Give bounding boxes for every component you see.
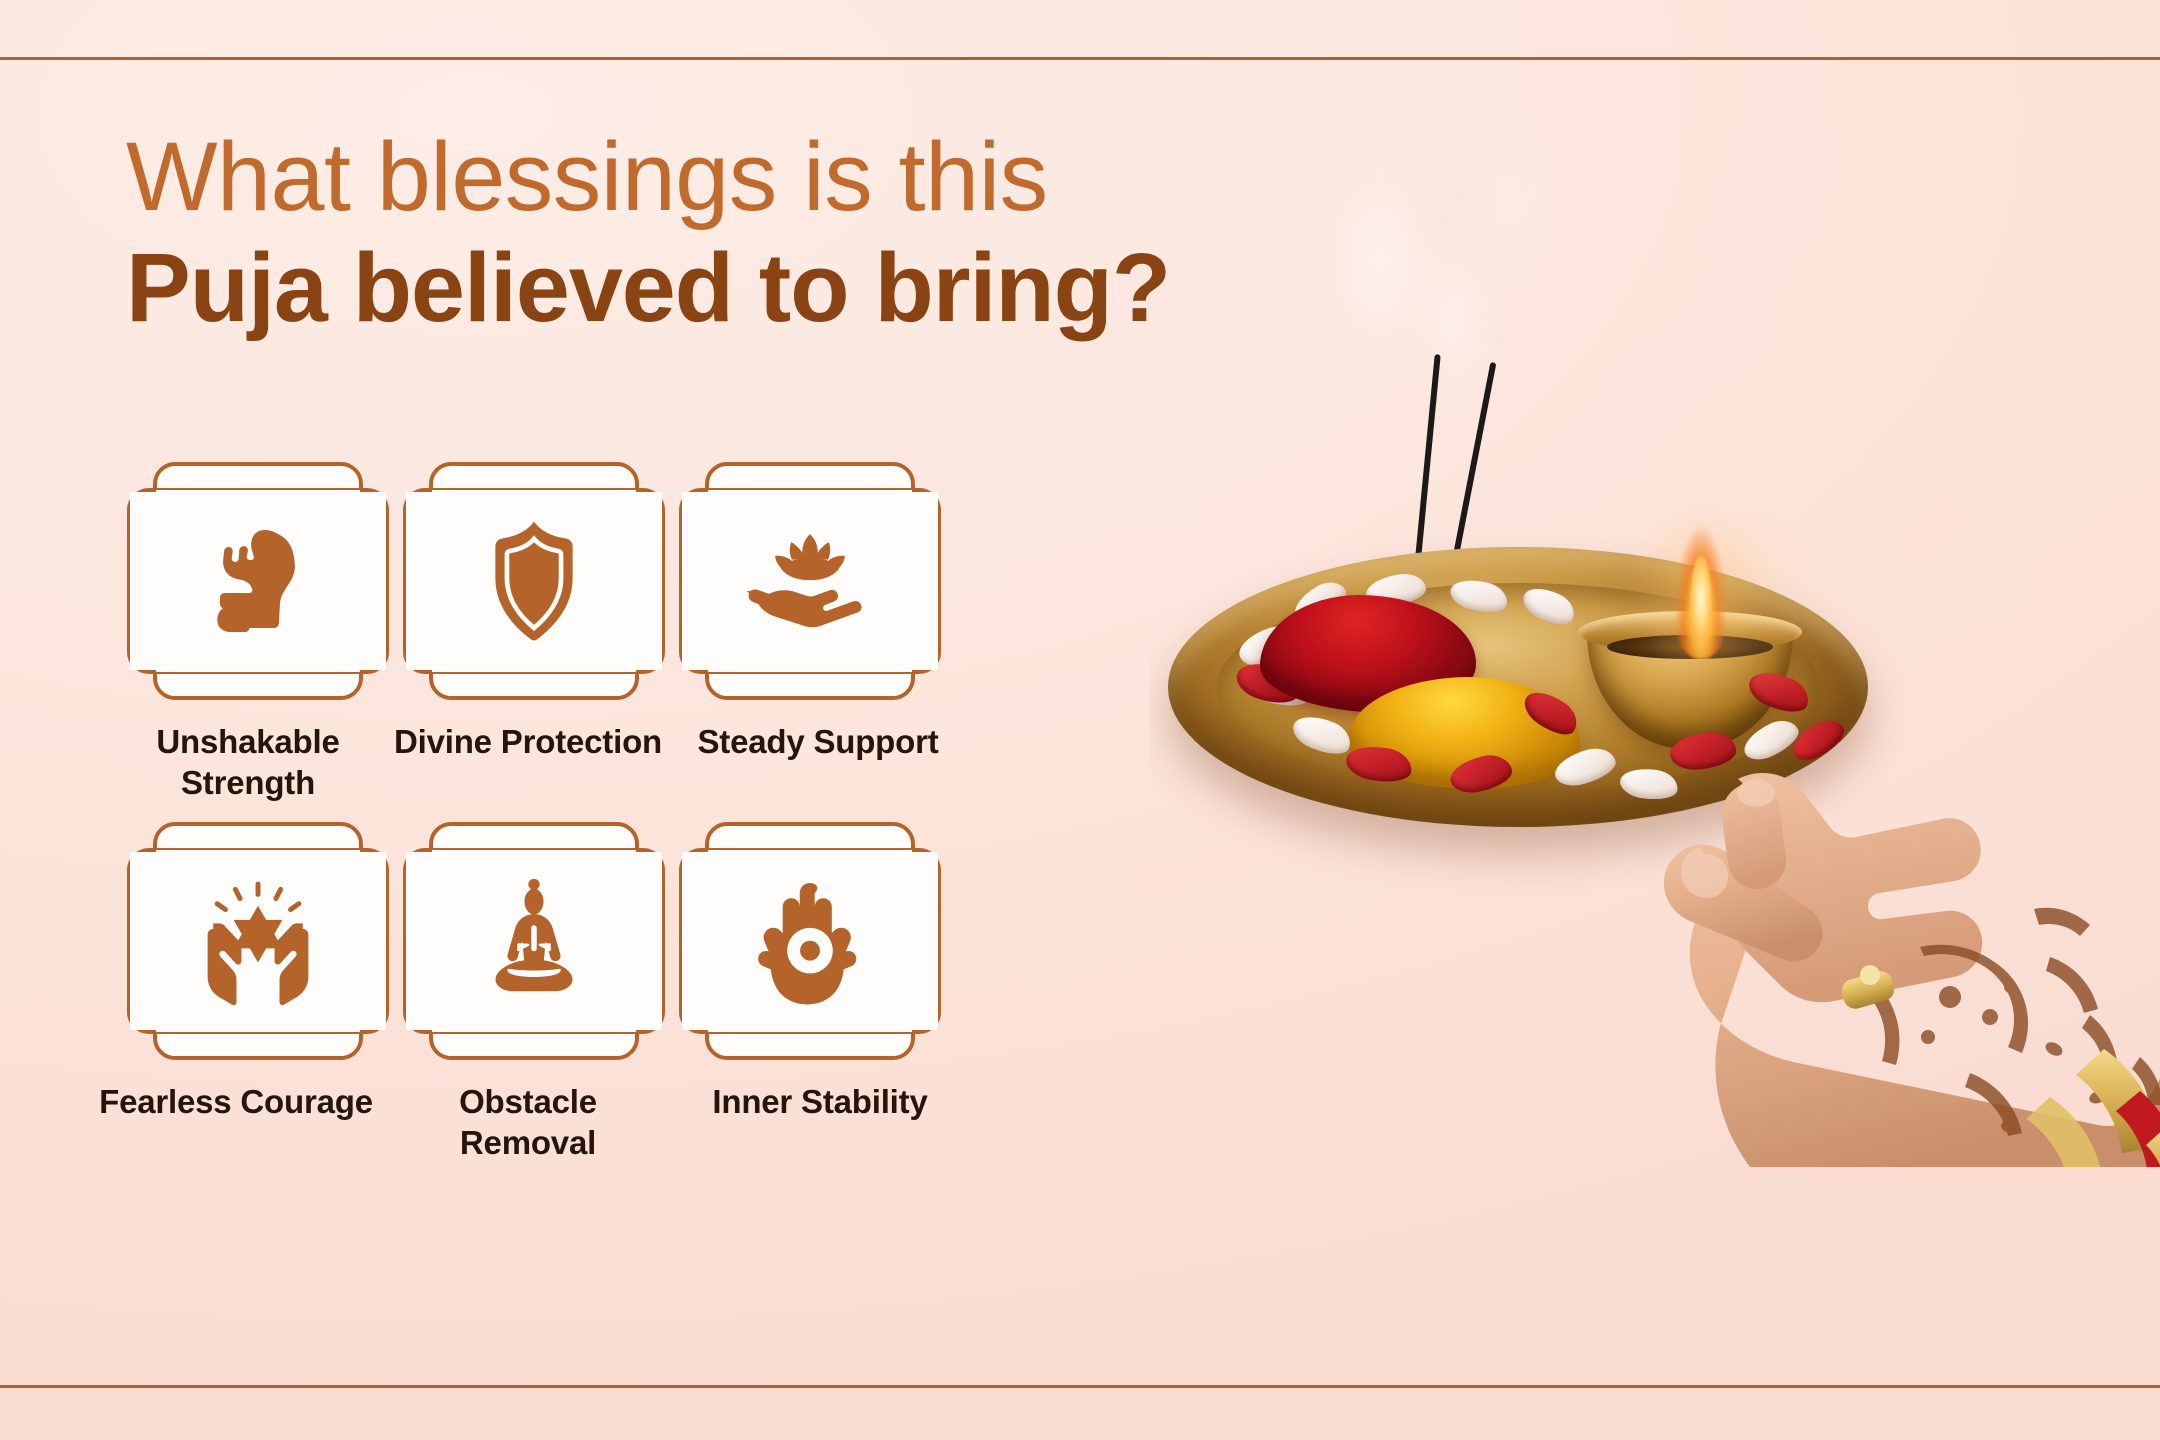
henna-hand xyxy=(1450,697,2160,1167)
benefit-label: Inner Stability xyxy=(682,1082,958,1123)
hamsa-hand-icon xyxy=(679,822,941,1060)
benefit-label: Fearless Courage xyxy=(98,1082,374,1123)
benefit-item[interactable]: Divine Protection xyxy=(396,462,672,804)
benefit-label: Divine Protection xyxy=(390,722,666,763)
incense-smoke xyxy=(1450,77,1570,327)
meditating-figure-icon xyxy=(403,822,665,1060)
benefit-item[interactable]: Fearless Courage xyxy=(120,822,396,1164)
benefit-item[interactable]: Inner Stability xyxy=(672,822,948,1164)
benefit-card-frame xyxy=(403,822,665,1060)
lotus-in-hand-icon xyxy=(679,462,941,700)
benefit-card-frame xyxy=(403,462,665,700)
benefit-label: Steady Support xyxy=(680,722,956,763)
benefit-card-frame xyxy=(679,462,941,700)
benefit-card-frame xyxy=(127,462,389,700)
puja-thali-photo xyxy=(1150,57,2160,1388)
flexed-bicep-icon xyxy=(127,462,389,700)
hands-with-star-icon xyxy=(127,822,389,1060)
benefit-item[interactable]: Obstacle Removal xyxy=(396,822,672,1164)
shield-icon xyxy=(403,462,665,700)
benefits-grid: Unshakable Strength Divine Protection xyxy=(120,462,948,1164)
benefit-item[interactable]: Unshakable Strength xyxy=(120,462,396,804)
benefit-item[interactable]: Steady Support xyxy=(672,462,948,804)
poster-canvas: What blessings is this Puja believed to … xyxy=(0,0,2160,1440)
diya-flame xyxy=(1673,509,1729,659)
benefit-card-frame xyxy=(127,822,389,1060)
benefit-label: Obstacle Removal xyxy=(390,1082,666,1164)
benefit-label: Unshakable Strength xyxy=(110,722,386,804)
benefit-card-frame xyxy=(679,822,941,1060)
